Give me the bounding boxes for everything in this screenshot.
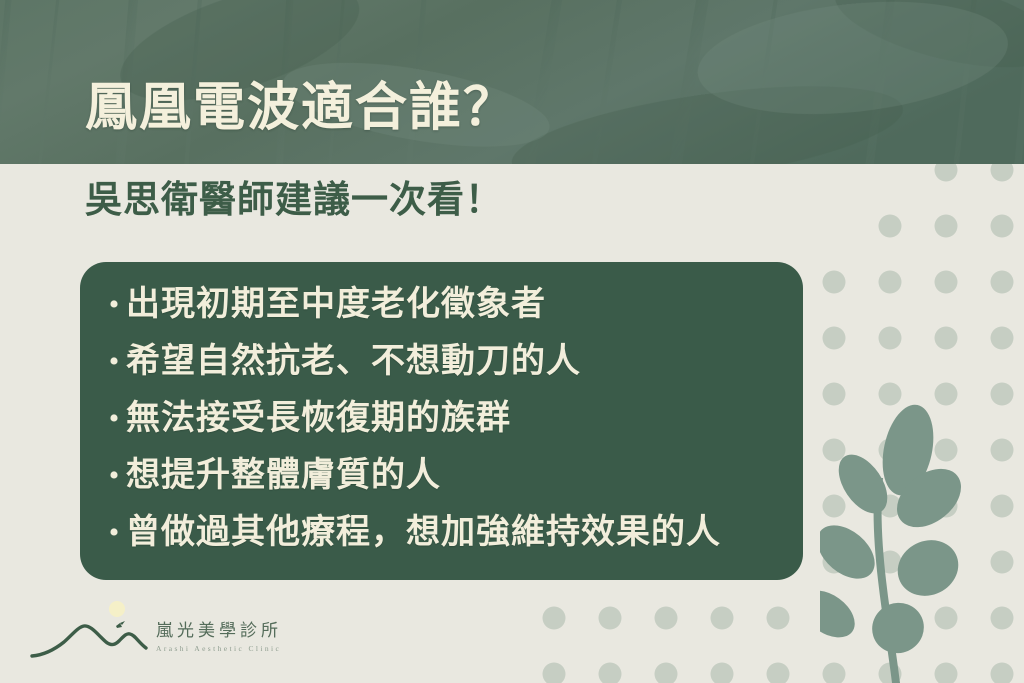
bullet-item: •想提升整體膚質的人	[102, 451, 789, 508]
leaf-branch-icon	[820, 400, 1024, 683]
mountain-icon	[30, 598, 148, 666]
bullet-text: 出現初期至中度老化徵象者	[126, 280, 546, 330]
sun-icon	[109, 601, 125, 617]
bullet-dot-icon: •	[102, 337, 126, 387]
clinic-name-en: Arashi Aesthetic Clinic	[156, 644, 282, 653]
bullet-item: •出現初期至中度老化徵象者	[102, 280, 789, 337]
bird-icon	[116, 621, 125, 628]
bullet-text: 希望自然抗老、不想動刀的人	[126, 337, 581, 387]
clinic-logo: 嵐光美學診所 Arashi Aesthetic Clinic	[30, 598, 280, 666]
bullet-text: 曾做過其他療程，想加強維持效果的人	[126, 508, 721, 558]
leaf-branch-svg	[820, 400, 1024, 683]
page-title: 鳳凰電波適合誰？	[85, 78, 517, 140]
bullet-item: •希望自然抗老、不想動刀的人	[102, 337, 789, 394]
logo-wordmark: 嵐光美學診所 Arashi Aesthetic Clinic	[156, 612, 282, 653]
bullet-dot-icon: •	[102, 451, 126, 501]
bullet-item: •曾做過其他療程，想加強維持效果的人	[102, 508, 789, 565]
slide-canvas: 鳳凰電波適合誰？ 吳思衛醫師建議一次看！ •出現初期至中度老化徵象者•希望自然抗…	[0, 0, 1024, 683]
bullet-list: •出現初期至中度老化徵象者•希望自然抗老、不想動刀的人•無法接受長恢復期的族群•…	[102, 280, 789, 565]
bullet-text: 無法接受長恢復期的族群	[126, 394, 511, 444]
logo-mark	[30, 598, 148, 666]
bullet-card: •出現初期至中度老化徵象者•希望自然抗老、不想動刀的人•無法接受長恢復期的族群•…	[80, 262, 803, 580]
clinic-name-cn: 嵐光美學診所	[156, 616, 282, 641]
bullet-dot-icon: •	[102, 508, 126, 558]
bullet-item: •無法接受長恢復期的族群	[102, 394, 789, 451]
subtitle: 吳思衛醫師建議一次看！	[85, 178, 503, 224]
bullet-text: 想提升整體膚質的人	[126, 451, 441, 501]
mountain-line	[32, 626, 146, 656]
bullet-dot-icon: •	[102, 280, 126, 330]
bullet-dot-icon: •	[102, 394, 126, 444]
